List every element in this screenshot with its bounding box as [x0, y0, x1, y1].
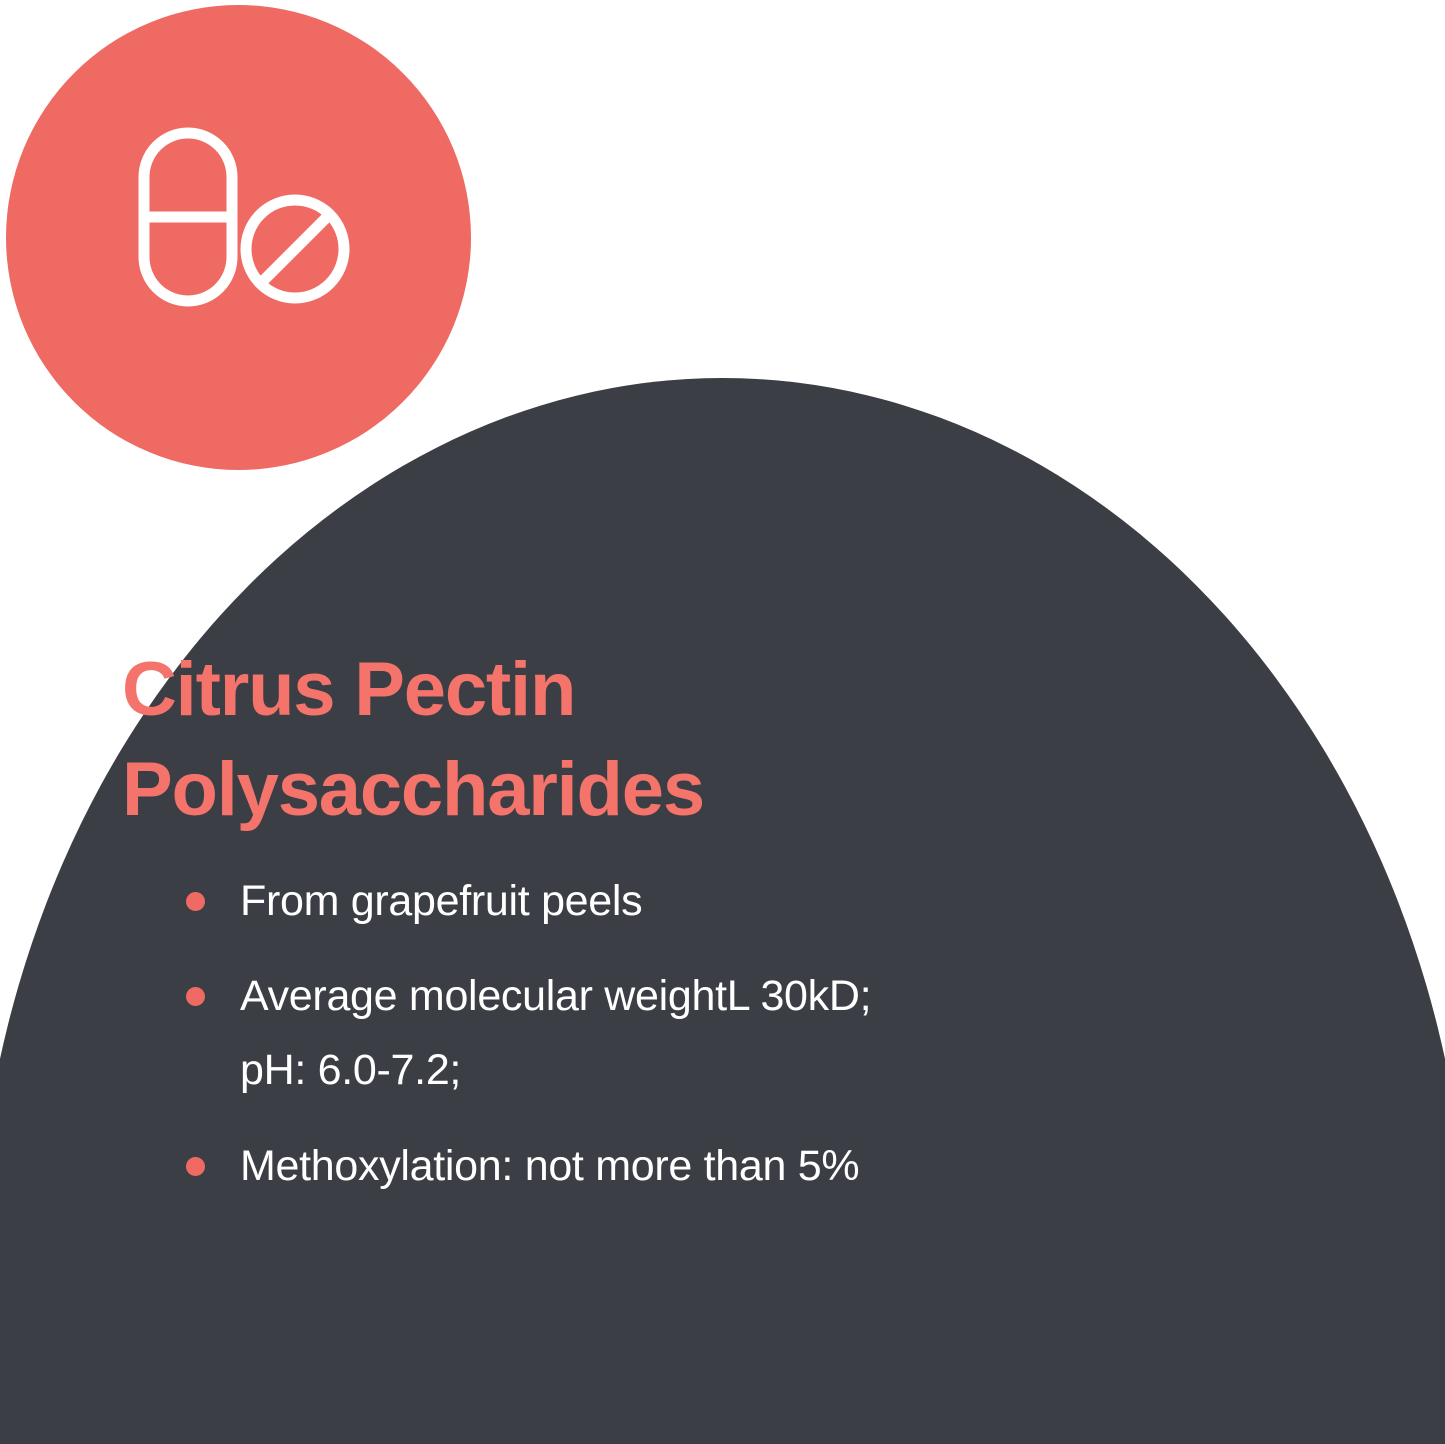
list-item: Methoxylation: not more than 5%: [122, 1132, 1242, 1202]
list-item-label: Average molecular weightL 30kD;: [240, 972, 871, 1020]
bullet-dot-icon: [186, 1157, 205, 1176]
infographic-canvas: Citrus Pectin Polysaccharides From grape…: [0, 0, 1445, 1444]
pill-capsule-tablet-icon: [128, 118, 360, 318]
spec-bullet-list: From grapefruit peels Average molecular …: [122, 867, 1242, 1202]
card-content: Citrus Pectin Polysaccharides From grape…: [122, 640, 1242, 1227]
bullet-dot-icon: [186, 987, 205, 1006]
list-item: Average molecular weightL 30kD; pH: 6.0-…: [122, 962, 1242, 1105]
page-title: Citrus Pectin Polysaccharides: [122, 640, 1242, 841]
list-item-label: From grapefruit peels: [240, 877, 642, 925]
list-item: From grapefruit peels: [122, 867, 1242, 937]
list-item-label: Methoxylation: not more than 5%: [240, 1142, 859, 1190]
bullet-dot-icon: [186, 892, 205, 911]
list-item-continuation: pH: 6.0-7.2;: [240, 1036, 1242, 1106]
